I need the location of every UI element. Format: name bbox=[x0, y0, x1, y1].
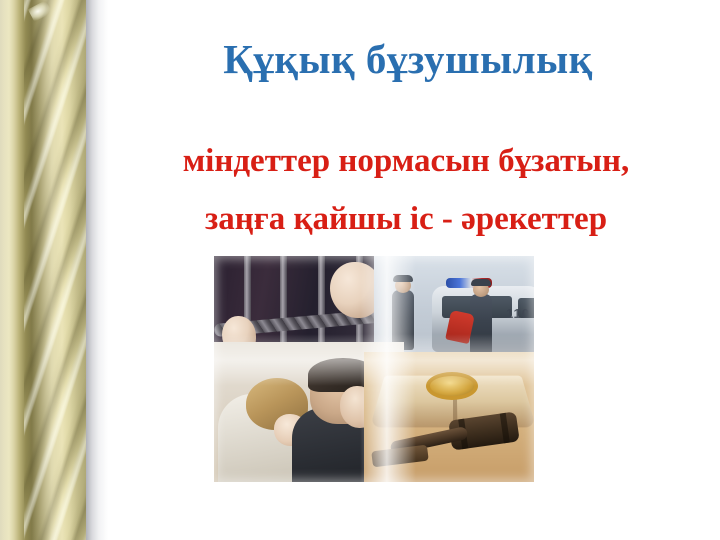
body-line-1: міндеттер нормасын бұзатын, bbox=[96, 132, 716, 190]
body-line-2: заңға қайшы іс - әрекеттер bbox=[96, 190, 716, 248]
slide-body-text: міндеттер нормасын бұзатын, заңға қайшы … bbox=[96, 132, 716, 248]
presentation-slide: Құқық бұзушылық міндеттер нормасын бұзат… bbox=[0, 0, 720, 540]
slide-title: Құқық бұзушылық bbox=[108, 34, 708, 84]
collage-edge-vignette bbox=[214, 256, 534, 482]
gold-border-sheen bbox=[0, 0, 86, 540]
border-drop-shadow bbox=[86, 0, 108, 540]
photo-collage: 110 bbox=[214, 256, 534, 482]
gold-column-border bbox=[0, 0, 86, 540]
